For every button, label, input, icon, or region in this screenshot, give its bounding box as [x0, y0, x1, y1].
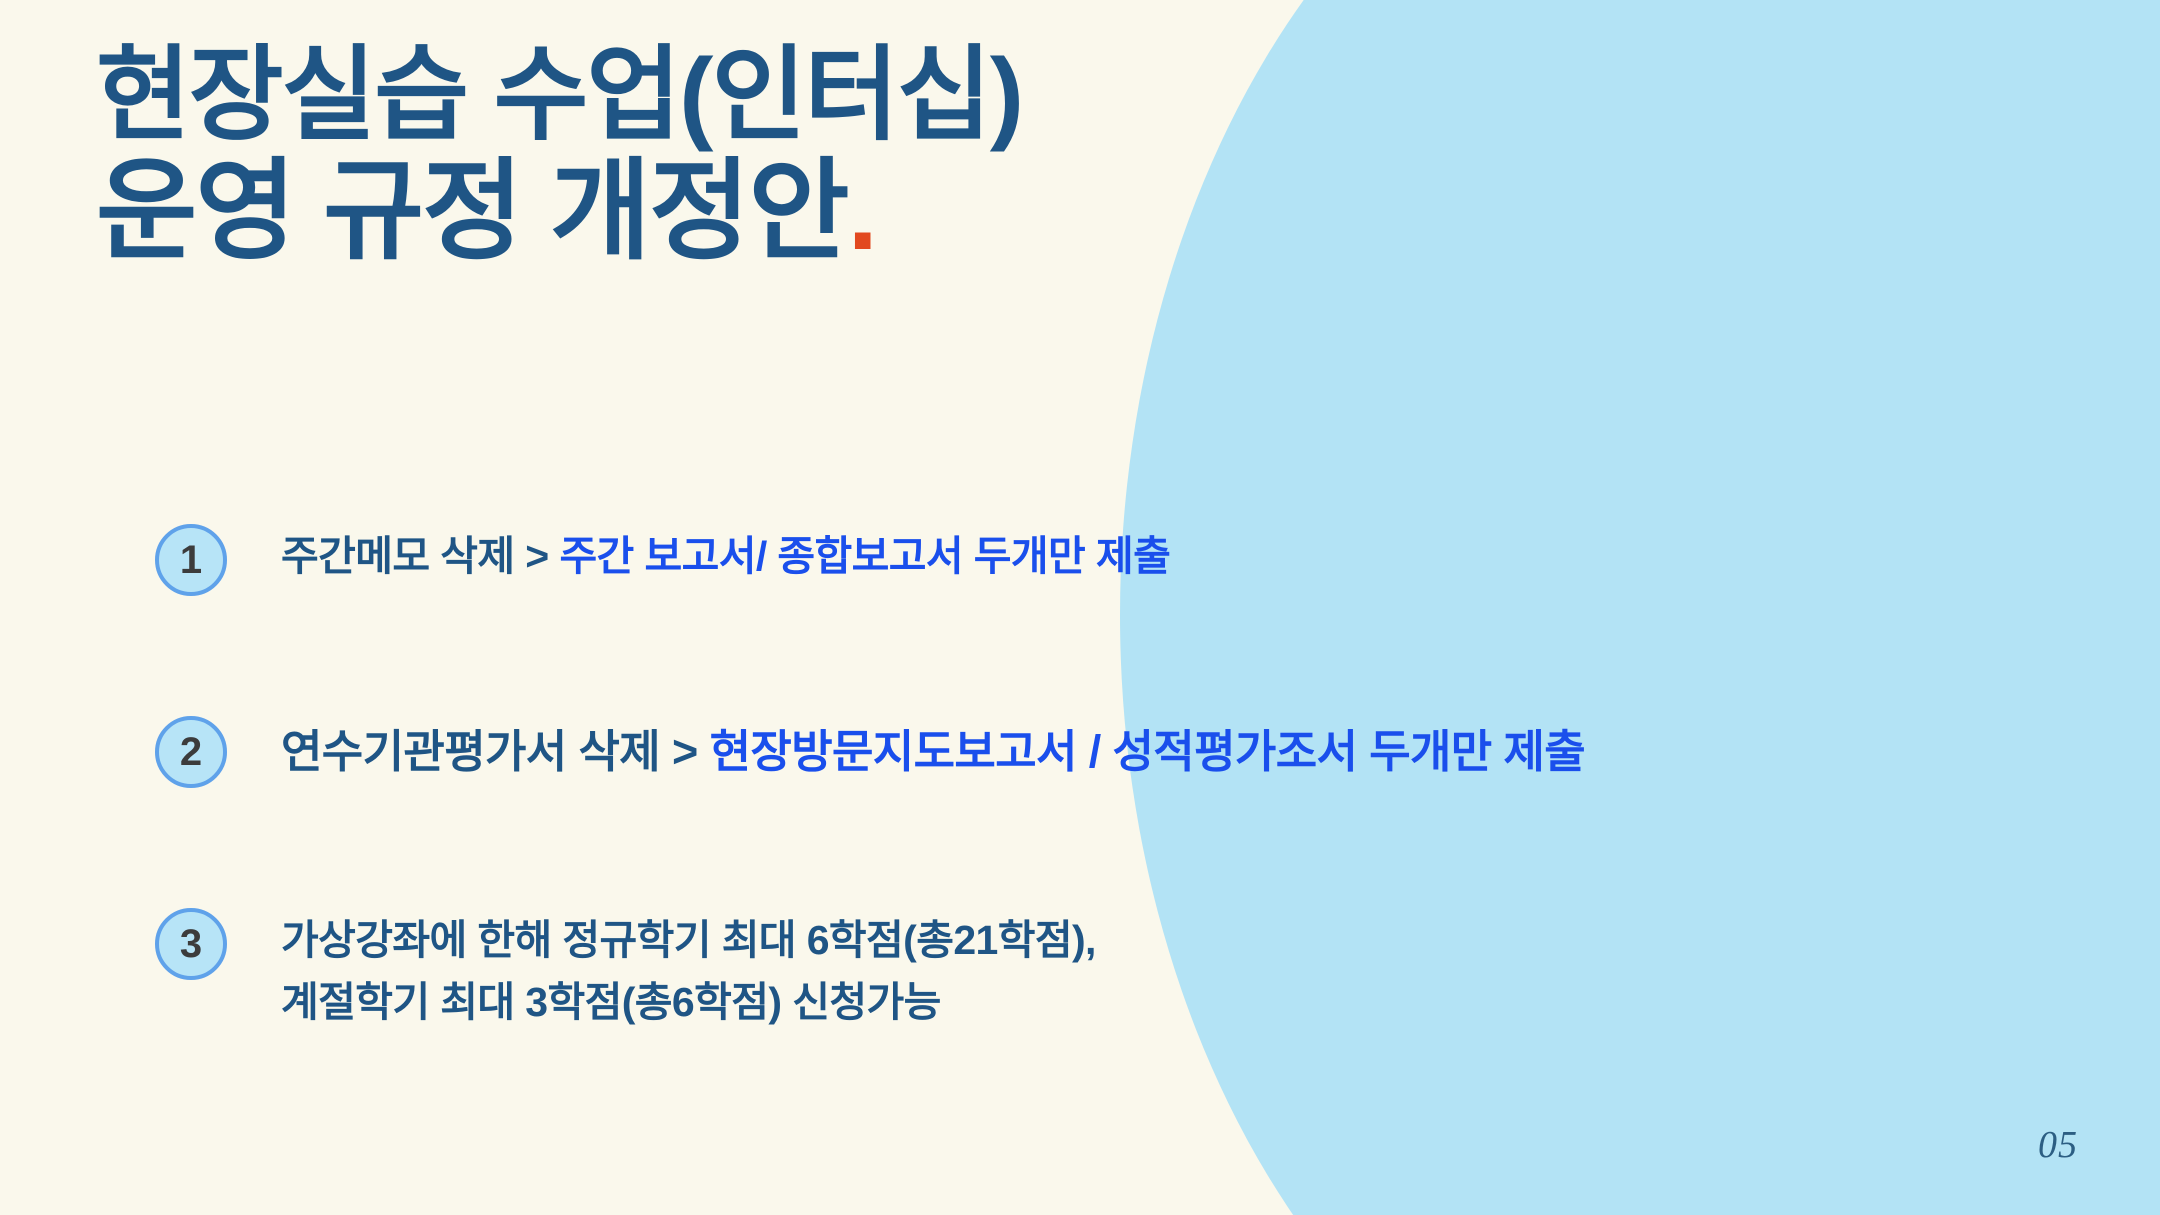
list-item: 1 주간메모 삭제 > 주간 보고서/ 종합보고서 두개만 제출: [155, 520, 1805, 596]
list-item-2-lead: 연수기관평가서 삭제 >: [281, 726, 710, 777]
numbered-list: 1 주간메모 삭제 > 주간 보고서/ 종합보고서 두개만 제출 2 연수기관평…: [155, 520, 1805, 1033]
title-line-2-text: 운영 규정 개정안: [96, 150, 848, 273]
list-item-text-2: 연수기관평가서 삭제 > 현장방문지도보고서 / 성적평가조서 두개만 제출: [281, 712, 1585, 786]
list-item: 3 가상강좌에 한해 정규학기 최대 6학점(총21학점), 계절학기 최대 3…: [155, 904, 1805, 1033]
list-item-2-emphasis: 현장방문지도보고서 / 성적평가조서 두개만 제출: [710, 726, 1586, 777]
list-item-3-line-1: 가상강좌에 한해 정규학기 최대 6학점(총21학점),: [281, 917, 1096, 963]
page-number: 05: [2038, 1123, 2078, 1167]
slide-root: 현장실습 수업(인터십) 운영 규정 개정안. 1 주간메모 삭제 > 주간 보…: [0, 0, 2160, 1215]
title-period-mark: .: [848, 150, 877, 273]
list-item: 2 연수기관평가서 삭제 > 현장방문지도보고서 / 성적평가조서 두개만 제출: [155, 712, 1805, 788]
title-line-1: 현장실습 수업(인터십): [96, 34, 1022, 156]
list-number-badge-3: 3: [155, 908, 227, 980]
list-item-text-1: 주간메모 삭제 > 주간 보고서/ 종합보고서 두개만 제출: [281, 520, 1170, 588]
slide-title: 현장실습 수업(인터십) 운영 규정 개정안.: [96, 34, 1022, 273]
list-item-1-lead: 주간메모 삭제 >: [281, 533, 559, 579]
title-line-2: 운영 규정 개정안.: [96, 150, 1022, 273]
list-item-3-line-2: 계절학기 최대 3학점(총6학점) 신청가능: [281, 972, 1096, 1034]
list-item-1-emphasis: 주간 보고서/ 종합보고서 두개만 제출: [559, 533, 1170, 579]
list-number-badge-1: 1: [155, 524, 227, 596]
list-number-badge-2: 2: [155, 716, 227, 788]
list-item-text-3: 가상강좌에 한해 정규학기 최대 6학점(총21학점), 계절학기 최대 3학점…: [281, 904, 1096, 1033]
